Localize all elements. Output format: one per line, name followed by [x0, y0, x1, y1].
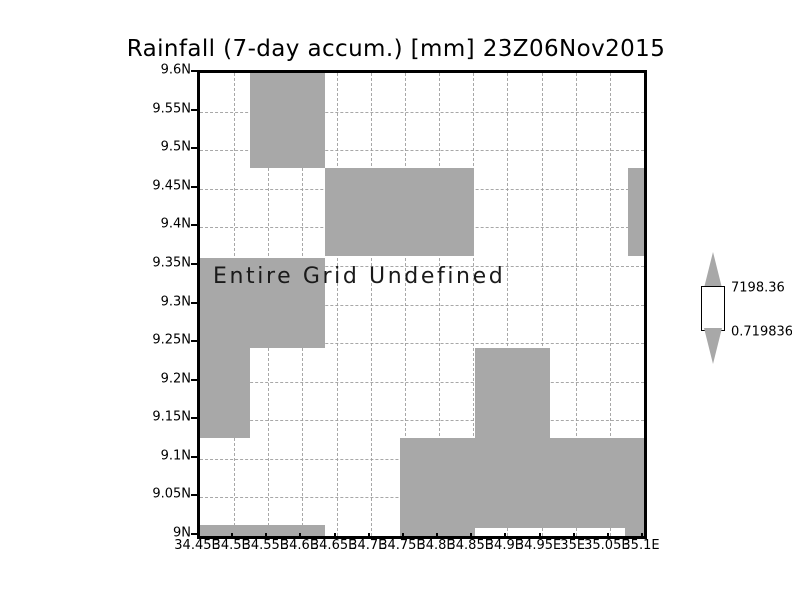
grid-line-vertical — [371, 73, 372, 536]
block-left-column — [200, 348, 250, 438]
page-title: Rainfall (7-day accum.) [mm] 23Z06Nov201… — [0, 36, 792, 62]
x-axis-tick-mark — [197, 533, 199, 539]
colorbar-low-value: 0.719836 — [731, 325, 792, 340]
colorbar-high-value: 7198.36 — [731, 281, 785, 296]
y-axis-tick-mark — [191, 224, 197, 226]
x-axis-tick-mark — [641, 533, 643, 539]
plot-area[interactable] — [197, 70, 647, 539]
y-axis-tick-mark — [191, 456, 197, 458]
x-axis-tick-mark — [607, 533, 609, 539]
y-axis-tick-label: 9.15N — [152, 410, 191, 425]
x-axis-tick-label: 34.95E — [516, 538, 561, 553]
x-axis-tick-mark — [231, 533, 233, 539]
y-axis-tick-mark — [191, 494, 197, 496]
colorbar-legend[interactable]: 7198.36 0.719836 — [700, 252, 726, 364]
x-axis-tick-mark — [573, 533, 575, 539]
y-axis-tick-label: 9.05N — [152, 487, 191, 502]
block-bottom-left-strip — [200, 525, 325, 536]
y-axis-tick-label: 9.1N — [161, 448, 191, 463]
y-axis-tick-mark — [191, 70, 197, 72]
block-right-edge-strip — [628, 168, 644, 256]
y-axis-tick-label: 9.25N — [152, 333, 191, 348]
y-axis-labels: 9.6N9.55N9.5N9.45N9.4N9.35N9.3N9.25N9.2N… — [140, 70, 191, 533]
x-axis-tick-mark — [368, 533, 370, 539]
y-axis-tick-mark — [191, 302, 197, 304]
x-axis-tick-mark — [299, 533, 301, 539]
grid-line-horizontal — [200, 382, 644, 383]
y-axis-tick-mark — [191, 109, 197, 111]
x-axis-tick-mark — [334, 533, 336, 539]
x-axis-labels: 34.45E34.5E34.55E34.6E34.65E34.7E34.75E3… — [197, 538, 641, 560]
y-axis-tick-label: 9.2N — [161, 371, 191, 386]
entire-grid-undefined-annotation: Entire Grid Undefined — [213, 264, 505, 289]
plot-canvas — [200, 73, 644, 536]
colorbar-bottom-arrow-icon — [704, 328, 722, 364]
y-axis-tick-label: 9.5N — [161, 140, 191, 155]
block-upper-mid — [325, 168, 474, 256]
x-axis-tick-mark — [402, 533, 404, 539]
y-axis-tick-label: 9.35N — [152, 255, 191, 270]
y-axis-tick-label: 9.4N — [161, 217, 191, 232]
block-top-left — [250, 73, 325, 168]
x-axis-tick-label: 35.1E — [622, 538, 659, 553]
block-bottom-band — [400, 438, 644, 528]
x-axis-tick-label: 35E — [560, 538, 585, 553]
y-axis-tick-label: 9.6N — [161, 63, 191, 78]
y-axis-tick-mark — [191, 186, 197, 188]
colorbar-box — [701, 286, 725, 331]
y-axis-tick-mark — [191, 379, 197, 381]
grid-line-vertical — [337, 73, 338, 536]
y-axis-tick-mark — [191, 417, 197, 419]
x-axis-tick-mark — [504, 533, 506, 539]
y-axis-tick-label: 9.3N — [161, 294, 191, 309]
x-axis-tick-mark — [470, 533, 472, 539]
y-axis-tick-label: 9.45N — [152, 178, 191, 193]
x-axis-tick-mark — [436, 533, 438, 539]
block-center-right — [475, 348, 550, 438]
y-axis-tick-mark — [191, 147, 197, 149]
y-axis-tick-mark — [191, 263, 197, 265]
y-axis-tick-label: 9.55N — [152, 101, 191, 116]
colorbar-top-arrow-icon — [704, 252, 722, 288]
x-axis-tick-mark — [539, 533, 541, 539]
y-axis-tick-mark — [191, 340, 197, 342]
x-axis-tick-mark — [265, 533, 267, 539]
grid-line-horizontal — [200, 420, 644, 421]
